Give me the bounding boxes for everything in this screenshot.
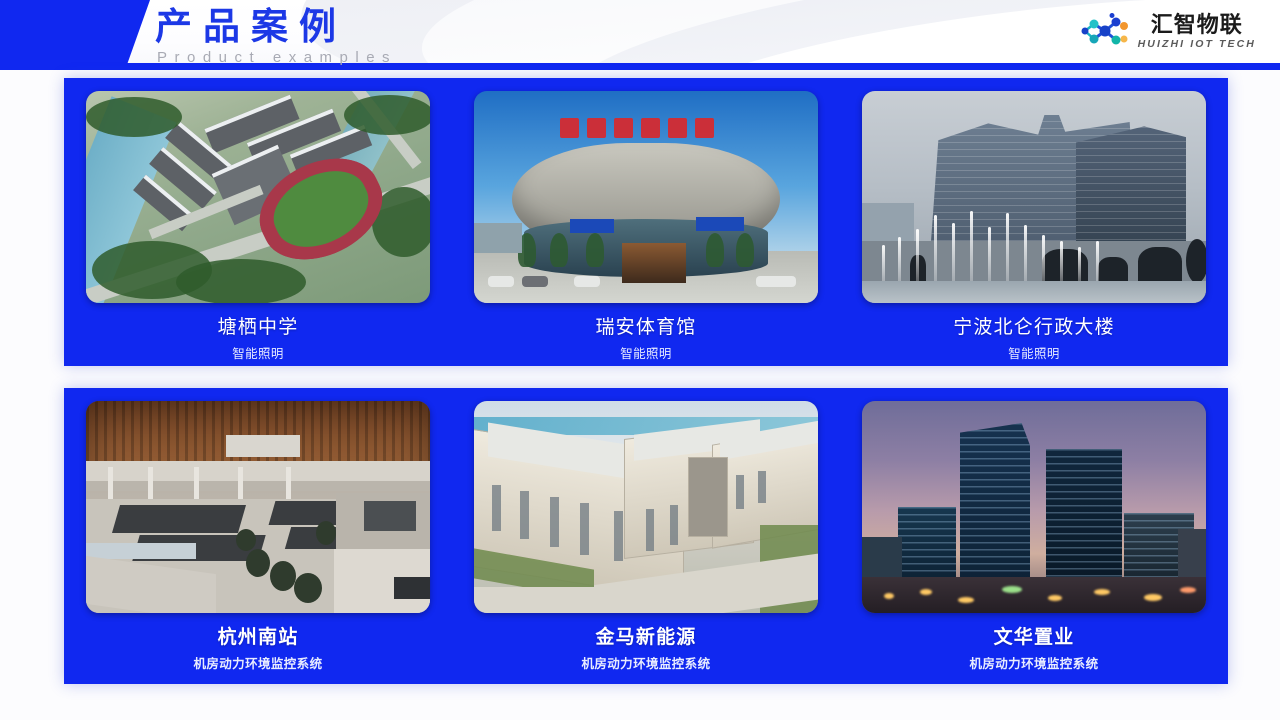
wenhua-real-estate-twin-towers-dusk-image xyxy=(862,401,1206,613)
case-card-title: 塘栖中学 xyxy=(218,316,299,339)
case-panel-row-1: 塘栖中学 智能照明 xyxy=(64,78,1228,366)
jinma-new-energy-industrial-park-image xyxy=(474,401,818,613)
ruian-gymnasium-exterior-photo-image xyxy=(474,91,818,303)
case-card-subtitle: 智能照明 xyxy=(1008,346,1060,363)
brand-logo-text: 汇智物联 HUIZHI IOT TECH xyxy=(1138,12,1256,51)
ningbo-beilun-administrative-building-fountain-image xyxy=(862,91,1206,303)
case-card[interactable]: 金马新能源 机房动力环境监控系统 xyxy=(452,388,840,684)
case-card-subtitle: 机房动力环境监控系统 xyxy=(581,656,710,673)
page-title-group: 产品案例 Product examples xyxy=(155,4,397,68)
brand-name-en: HUIZHI IOT TECH xyxy=(1138,37,1256,51)
case-card-title: 宁波北仑行政大楼 xyxy=(953,316,1115,339)
hangzhou-south-railway-station-image xyxy=(86,401,430,613)
slide-root: 产品案例 Product examples xyxy=(0,0,1280,720)
case-card-title: 文华置业 xyxy=(994,626,1075,649)
case-card-title: 金马新能源 xyxy=(595,626,696,649)
page-subtitle: Product examples xyxy=(157,48,397,68)
case-card-title: 瑞安体育馆 xyxy=(595,316,696,339)
brand-name-cn: 汇智物联 xyxy=(1151,12,1243,37)
case-card[interactable]: 瑞安体育馆 智能照明 xyxy=(452,78,840,366)
case-card[interactable]: 宁波北仑行政大楼 智能照明 xyxy=(840,78,1228,366)
case-panel-row-2: 杭州南站 机房动力环境监控系统 xyxy=(64,388,1228,684)
case-card[interactable]: 杭州南站 机房动力环境监控系统 xyxy=(64,388,452,684)
case-card-list-row-1: 塘栖中学 智能照明 xyxy=(64,78,1228,366)
header-blue-parallelogram xyxy=(0,0,150,63)
case-card[interactable]: 文华置业 机房动力环境监控系统 xyxy=(840,388,1228,684)
case-card-subtitle: 智能照明 xyxy=(232,346,284,363)
case-card-subtitle: 智能照明 xyxy=(620,346,672,363)
case-card-subtitle: 机房动力环境监控系统 xyxy=(193,656,322,673)
tangqi-middle-school-aerial-rendering-image xyxy=(86,91,430,303)
case-card-subtitle: 机房动力环境监控系统 xyxy=(969,656,1098,673)
page-title: 产品案例 xyxy=(155,4,397,50)
huizhi-molecular-network-logo-icon xyxy=(1079,11,1129,51)
case-card-list-row-2: 杭州南站 机房动力环境监控系统 xyxy=(64,388,1228,684)
case-card-title: 杭州南站 xyxy=(218,626,299,649)
case-card[interactable]: 塘栖中学 智能照明 xyxy=(64,78,452,366)
brand-logo: 汇智物联 HUIZHI IOT TECH xyxy=(1079,11,1256,51)
